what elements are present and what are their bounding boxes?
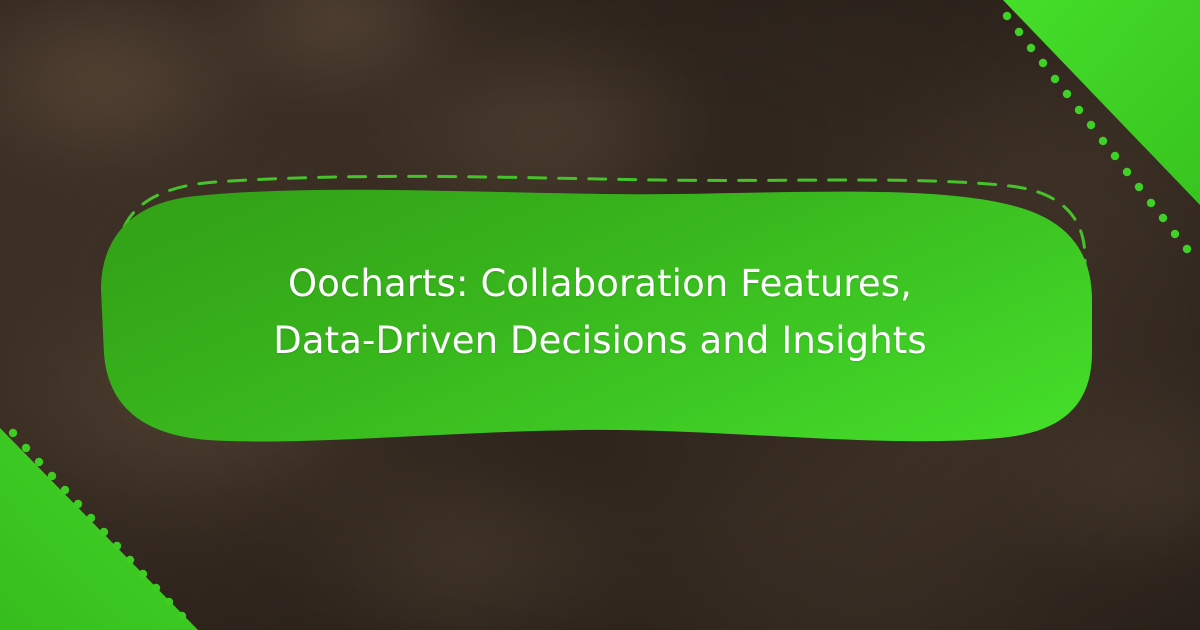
page-title: Oocharts: Collaboration Features, Data-D…	[150, 255, 1050, 369]
social-card-canvas: Oocharts: Collaboration Features, Data-D…	[0, 0, 1200, 630]
